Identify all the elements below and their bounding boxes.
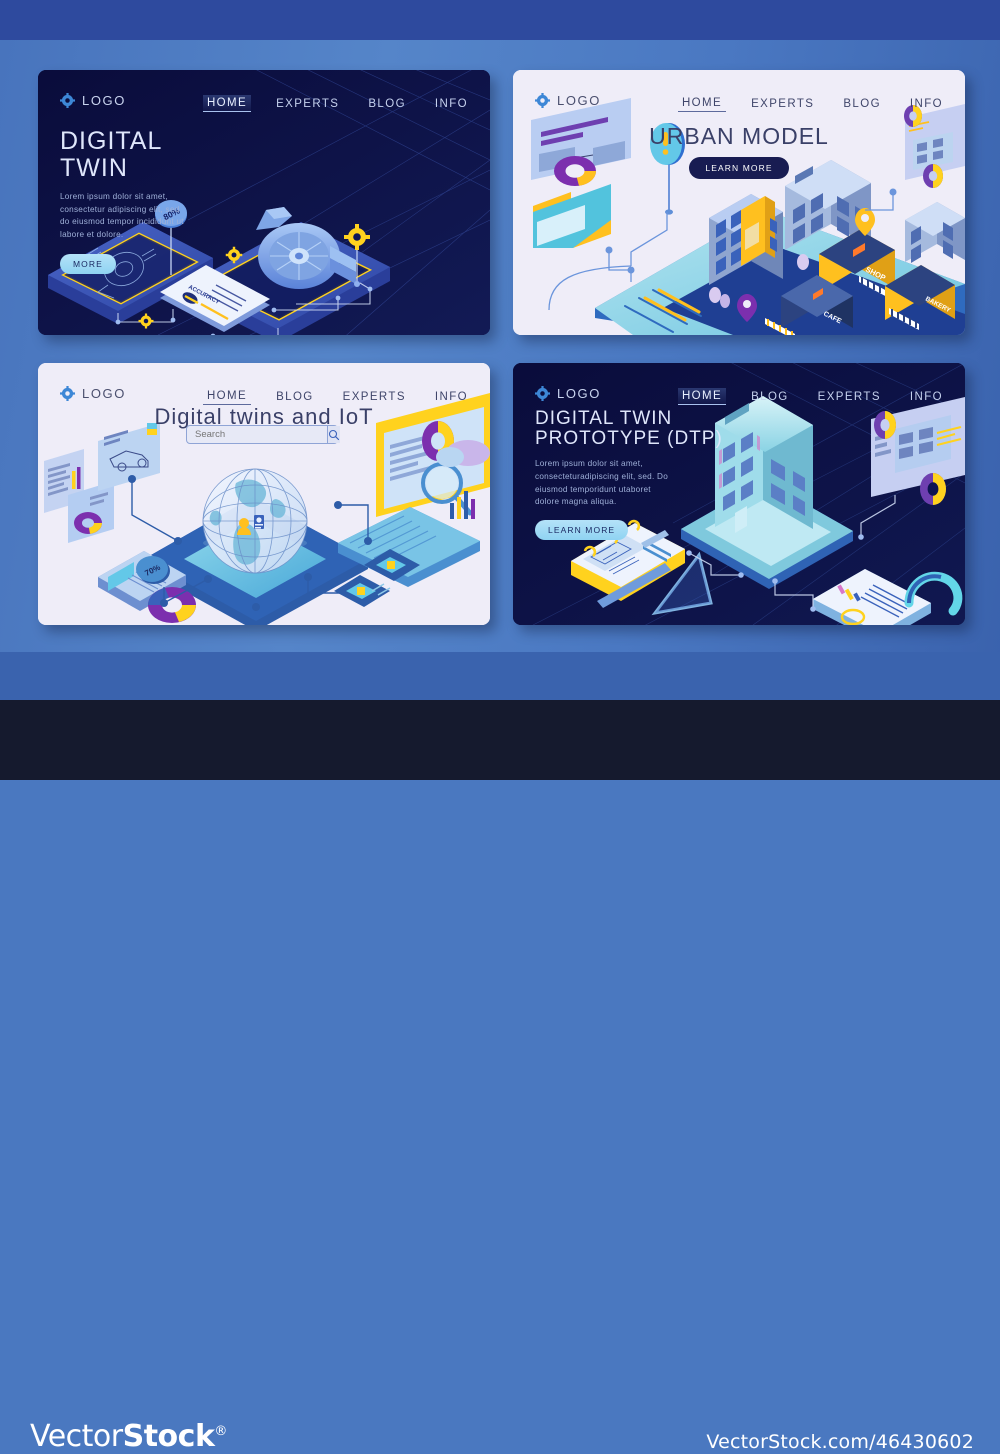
- logo-label: LOGO: [82, 386, 126, 401]
- learn-more-button[interactable]: LEARN MORE: [535, 520, 628, 540]
- nav-menu: HOME BLOG EXPERTS INFO: [203, 388, 472, 405]
- registered-mark: ®: [214, 1424, 227, 1439]
- gear-icon: [535, 93, 550, 108]
- logo[interactable]: LOGO: [60, 386, 126, 401]
- nav-item-blog[interactable]: BLOG: [364, 96, 410, 112]
- logo-label: LOGO: [557, 93, 601, 108]
- banner-urban-model: SHOP CAFE: [513, 70, 965, 335]
- nav-item-home[interactable]: HOME: [678, 95, 726, 112]
- logo[interactable]: LOGO: [60, 93, 126, 108]
- nav-item-blog[interactable]: BLOG: [839, 96, 885, 112]
- hero-block: DIGITAL TWIN Lorem ipsum dolor sit amet,…: [60, 128, 210, 274]
- panel-header: LOGO HOME BLOG EXPERTS INFO: [513, 363, 965, 409]
- banner-digital-twins-iot: 70%: [38, 363, 490, 625]
- banner-digital-twin: 80%: [38, 70, 490, 335]
- donut-chart: [148, 587, 196, 623]
- nav-menu: HOME EXPERTS BLOG INFO: [678, 95, 947, 112]
- watermark-bar: VectorStock® VectorStock.com/46430602: [0, 700, 1000, 780]
- panel-header: LOGO HOME EXPERTS BLOG INFO: [513, 70, 965, 116]
- nav-item-home[interactable]: HOME: [678, 388, 726, 405]
- nav-item-home[interactable]: HOME: [203, 95, 251, 112]
- page-title-line2: TWIN: [60, 155, 210, 182]
- more-button[interactable]: MORE: [60, 254, 116, 274]
- nav-item-info[interactable]: INFO: [906, 96, 947, 112]
- nav-item-info[interactable]: INFO: [906, 389, 947, 405]
- hero-body-text: Lorem ipsum dolor sit amet, consectetur …: [60, 191, 188, 242]
- logo-label: LOGO: [82, 93, 126, 108]
- nav-item-info[interactable]: INFO: [431, 389, 472, 405]
- nav-item-experts[interactable]: EXPERTS: [272, 96, 343, 112]
- logo-label: LOGO: [557, 386, 601, 401]
- screenshot-stage: 80%: [0, 0, 1000, 780]
- vectorstock-logo-part1: Vector: [30, 1419, 123, 1454]
- gear-icon: [60, 386, 75, 401]
- hero-body-text: Lorem ipsum dolor sit amet, consectetura…: [535, 458, 677, 509]
- background-bottom-strip: [0, 652, 1000, 700]
- vectorstock-logo: VectorStock®: [30, 1419, 227, 1454]
- nav-item-blog[interactable]: BLOG: [747, 389, 793, 405]
- hero-block: DIGITAL TWIN PROTOTYPE (DTP) Lorem ipsum…: [535, 409, 750, 540]
- search-button[interactable]: [327, 426, 340, 443]
- gear-icon: [535, 386, 550, 401]
- panel-header: LOGO HOME EXPERTS BLOG INFO: [38, 70, 490, 116]
- vectorstock-logo-part2: Stock: [123, 1419, 215, 1454]
- page-title: URBAN MODEL: [513, 124, 965, 148]
- nav-item-info[interactable]: INFO: [431, 96, 472, 112]
- page-title-line1: DIGITAL: [60, 128, 210, 155]
- search-input[interactable]: [187, 429, 327, 440]
- hero-block: URBAN MODEL LEARN MORE: [513, 124, 965, 179]
- banner-digital-twin-prototype: LOGO HOME BLOG EXPERTS INFO DIGITAL TWIN…: [513, 363, 965, 625]
- panel-header: LOGO HOME BLOG EXPERTS INFO: [38, 363, 490, 409]
- search-bar[interactable]: [186, 425, 338, 444]
- nav-item-experts[interactable]: EXPERTS: [747, 96, 818, 112]
- nav-menu: HOME EXPERTS BLOG INFO: [203, 95, 472, 112]
- logo[interactable]: LOGO: [535, 386, 601, 401]
- gear-icon: [60, 93, 75, 108]
- vectorstock-url: VectorStock.com/46430602: [706, 1431, 974, 1453]
- logo[interactable]: LOGO: [535, 93, 601, 108]
- search-icon: [328, 429, 340, 441]
- page-title-line2: PROTOTYPE (DTP): [535, 429, 750, 449]
- nav-item-experts[interactable]: EXPERTS: [814, 389, 885, 405]
- nav-item-home[interactable]: HOME: [203, 388, 251, 405]
- nav-menu: HOME BLOG EXPERTS INFO: [678, 388, 947, 405]
- nav-item-experts[interactable]: EXPERTS: [339, 389, 410, 405]
- nav-item-blog[interactable]: BLOG: [272, 389, 318, 405]
- learn-more-button[interactable]: LEARN MORE: [689, 157, 788, 179]
- page-title-line1: DIGITAL TWIN: [535, 409, 750, 429]
- background-top-strip: [0, 0, 1000, 40]
- globe: [203, 469, 307, 573]
